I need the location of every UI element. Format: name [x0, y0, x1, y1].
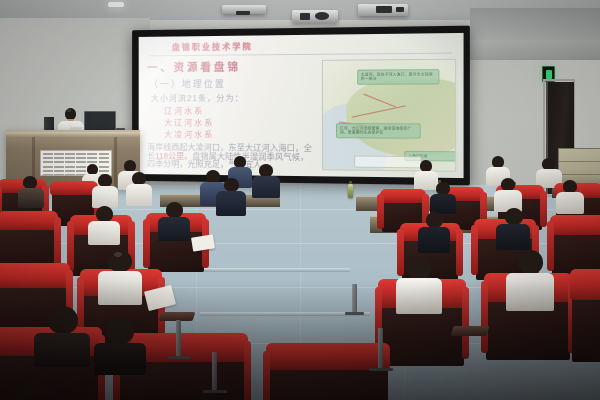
slide-institution-header: 盘锦职业技术学院 — [145, 38, 456, 53]
map-callout-1: 大凌河、双台子河入海口，是丹东大陆架的一部分 — [357, 69, 439, 85]
river-system-1: 辽河水系 — [164, 105, 316, 117]
auditorium-seat[interactable] — [572, 272, 600, 362]
seat-tablet-arm — [450, 326, 489, 336]
attendee — [252, 164, 280, 196]
lecture-hall-scene: 盘锦职业技术学院 一、资源看盘锦 （一）地理位置 大小河流21条，分为： 辽河水… — [0, 0, 600, 400]
map-callout-2: 辽河、大辽河流经盘锦，滩涂湿地面积广阔，是重要的生态保护区 — [336, 123, 420, 139]
attendee — [18, 176, 44, 206]
attendee — [34, 306, 90, 362]
attendee — [88, 206, 120, 242]
projector-center — [292, 10, 338, 23]
presentation-slide: 盘锦职业技术学院 一、资源看盘锦 （一）地理位置 大小河流21条，分为： 辽河水… — [139, 33, 464, 178]
water-bottle — [348, 184, 353, 198]
attendee — [556, 180, 584, 212]
slide-lead-line: 大小河流21条，分为： — [151, 92, 316, 104]
attendee — [506, 250, 554, 308]
projector-right — [358, 4, 408, 16]
auditorium-seat[interactable] — [268, 346, 388, 400]
map-legend — [354, 156, 422, 169]
projection-screen-surface: 盘锦职业技术学院 一、资源看盘锦 （一）地理位置 大小河流21条，分为： 辽河水… — [139, 33, 464, 178]
attendee — [126, 172, 152, 204]
auditorium-seat[interactable] — [552, 218, 600, 276]
river-system-3: 大凌河水系 — [164, 128, 316, 141]
slide-map-column: 大凌河、双台子河入海口，是丹东大陆架的一部分 辽河、大辽河流经盘锦，滩涂湿地面积… — [320, 57, 456, 172]
ceiling-light — [108, 2, 124, 7]
attendee — [158, 202, 190, 238]
river-system-2: 大辽河水系 — [164, 117, 316, 129]
attendee — [496, 208, 530, 246]
ceiling-soffit — [455, 40, 600, 60]
projector-left — [222, 5, 266, 14]
attendee — [216, 178, 246, 214]
attendee — [494, 178, 522, 210]
auditorium-seat[interactable] — [0, 214, 56, 270]
region-map-image: 大凌河、双台子河入海口，是丹东大陆架的一部分 辽河、大辽河流经盘锦，滩涂湿地面积… — [322, 59, 456, 172]
attendee — [418, 212, 450, 250]
slide-title: 一、资源看盘锦 — [147, 58, 316, 75]
slide-text-column: 一、资源看盘锦 （一）地理位置 大小河流21条，分为： 辽河水系 大辽河水系 大… — [145, 58, 316, 170]
slide-header-rule — [149, 53, 452, 57]
attendee — [94, 318, 146, 370]
attendee — [98, 250, 142, 302]
attendee — [92, 174, 118, 206]
attendee — [430, 182, 456, 212]
slide-subtitle: （一）地理位置 — [149, 76, 316, 91]
attendee — [396, 256, 442, 310]
